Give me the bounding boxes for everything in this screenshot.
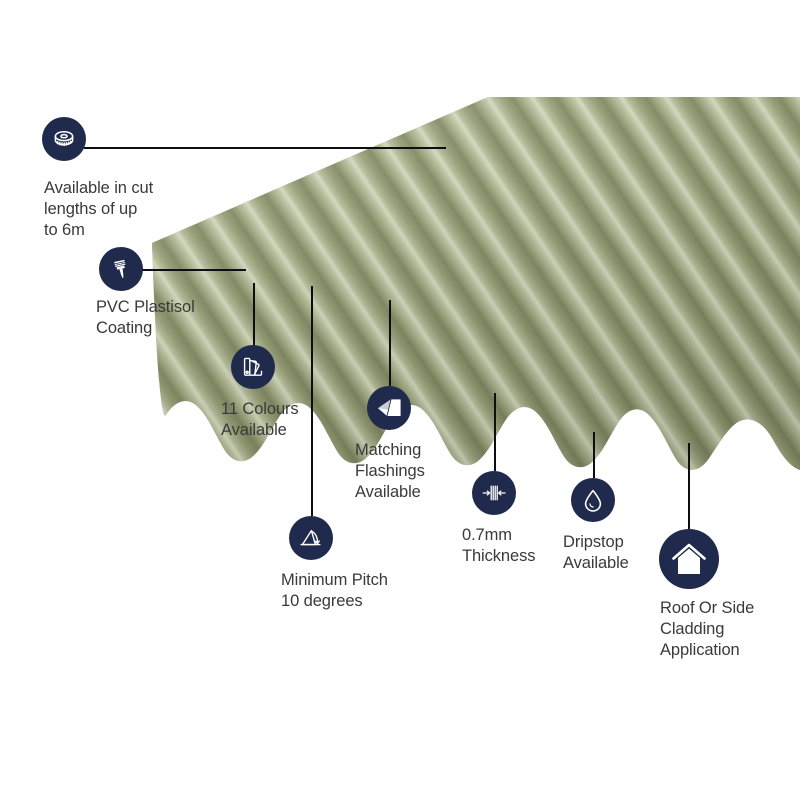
- leader-line-pvc-plastisol: [139, 269, 246, 271]
- leader-line-colours: [253, 283, 255, 345]
- callout-label-cladding: Roof Or Side Cladding Application: [660, 598, 800, 661]
- callout-label-pitch: Minimum Pitch 10 degrees: [281, 570, 451, 612]
- water-drop-icon: [580, 487, 606, 513]
- colour-swatch-fan-icon: [240, 354, 266, 380]
- leader-line-cut-lengths: [84, 147, 446, 149]
- callout-badge-colours[interactable]: [231, 345, 275, 389]
- callout-badge-cut-lengths[interactable]: [42, 117, 86, 161]
- infographic-canvas: Available in cut lengths of up to 6m PVC…: [0, 0, 800, 800]
- callout-badge-thickness[interactable]: [472, 471, 516, 515]
- leader-line-cladding: [688, 443, 690, 529]
- callout-badge-flashings[interactable]: [367, 386, 411, 430]
- callout-badge-pvc-plastisol[interactable]: [99, 247, 143, 291]
- callout-badge-pitch[interactable]: [289, 516, 333, 560]
- tape-measure-icon: [51, 126, 77, 152]
- leader-line-thickness: [494, 393, 496, 471]
- house-icon: [669, 539, 709, 579]
- angle-pitch-icon: [298, 525, 324, 551]
- callout-label-cut-lengths: Available in cut lengths of up to 6m: [44, 178, 219, 241]
- callout-label-colours: 11 Colours Available: [221, 399, 361, 441]
- callout-label-flashings: Matching Flashings Available: [355, 440, 485, 503]
- paintbrush-icon: [108, 256, 134, 282]
- leader-line-flashings: [389, 300, 391, 386]
- thickness-arrows-icon: [480, 479, 508, 507]
- callout-badge-cladding[interactable]: [659, 529, 719, 589]
- folded-flashing-icon: [374, 393, 404, 423]
- leader-line-dripstop: [593, 432, 595, 478]
- callout-label-pvc-plastisol: PVC Plastisol Coating: [96, 297, 246, 339]
- callout-badge-dripstop[interactable]: [571, 478, 615, 522]
